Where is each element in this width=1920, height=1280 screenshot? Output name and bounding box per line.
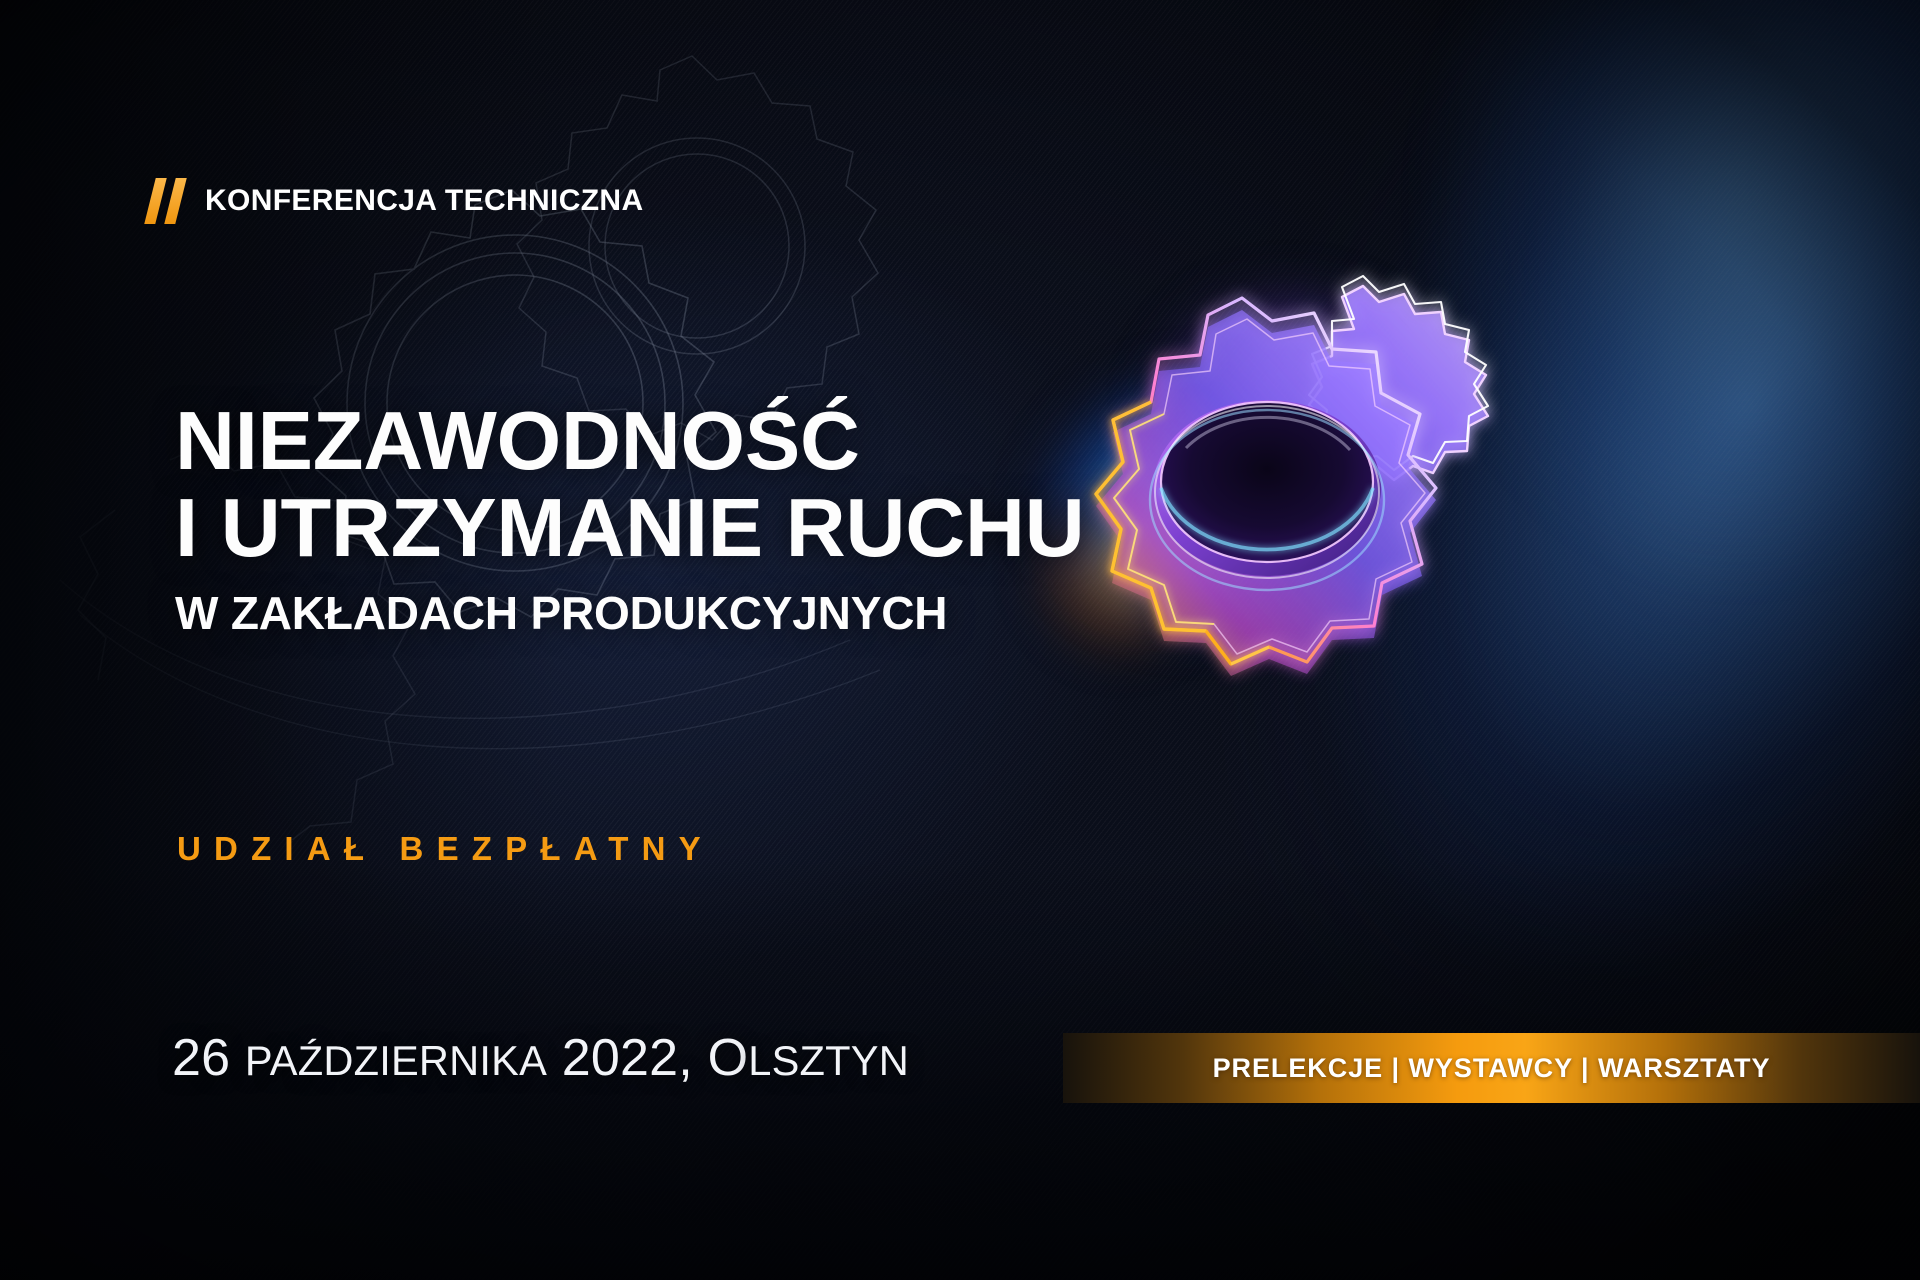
date-year: 2022 <box>562 1029 679 1087</box>
eyebrow: KONFERENCJA TECHNICZNA <box>150 178 643 224</box>
date-separator: , <box>678 1029 707 1087</box>
headline-line-3: W ZAKŁADACH PRODUKCYJNYCH <box>175 591 1085 636</box>
features-ribbon-label: PRELEKCJE | WYSTAWCY | WARSZTATY <box>1213 1053 1771 1084</box>
date-month: PAŹDZIERNIKA <box>245 1037 547 1084</box>
headline-line-2: I UTRZYMANIE RUCHU <box>175 487 1085 568</box>
free-participation-badge: UDZIAŁ BEZPŁATNY <box>177 830 714 868</box>
features-ribbon: PRELEKCJE | WYSTAWCY | WARSZTATY <box>1063 1033 1920 1103</box>
eyebrow-label: KONFERENCJA TECHNICZNA <box>205 184 643 218</box>
page-title: NIEZAWODNOŚĆ I UTRZYMANIE RUCHU W ZAKŁAD… <box>175 400 1085 636</box>
banner-content: KONFERENCJA TECHNICZNA NIEZAWODNOŚĆ I UT… <box>0 0 1920 1280</box>
conference-promo-banner: KONFERENCJA TECHNICZNA NIEZAWODNOŚĆ I UT… <box>0 0 1920 1280</box>
date-day: 26 <box>172 1029 230 1087</box>
city-rest: LSZTYN <box>748 1037 909 1084</box>
city-initial: O <box>708 1029 749 1087</box>
headline-line-1: NIEZAWODNOŚĆ <box>175 400 1085 481</box>
double-slash-icon <box>150 178 181 224</box>
date-location: 26 PAŹDZIERNIKA 2022, OLSZTYN <box>172 1028 909 1088</box>
